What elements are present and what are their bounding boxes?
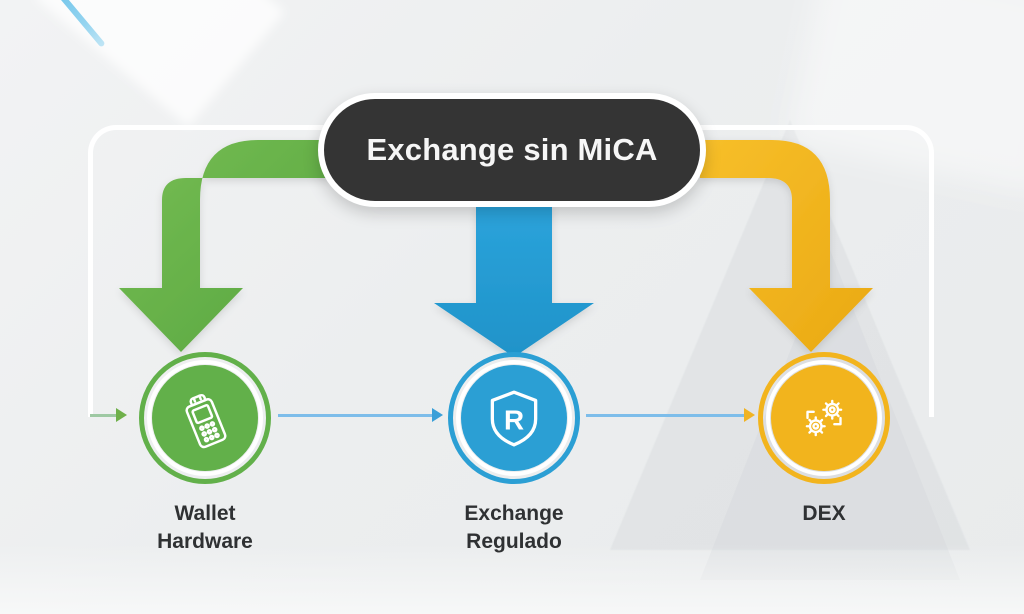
node-label-line2: Hardware	[115, 528, 295, 556]
node-exchange-regulado-label: Exchange Regulado	[424, 500, 604, 555]
node-label-line1: DEX	[734, 500, 914, 528]
node-wallet-hardware-label: Wallet Hardware	[115, 500, 295, 555]
connector-wallet-to-exchange	[278, 414, 432, 417]
svg-text:R: R	[504, 404, 524, 435]
node-label-line1: Wallet	[115, 500, 295, 528]
page-title: Exchange sin MiCA	[366, 132, 657, 168]
connector-frame-to-wallet	[90, 414, 116, 417]
node-dex-label: DEX	[734, 500, 914, 528]
node-dex-circle[interactable]	[758, 352, 890, 484]
connector-exchange-to-dex	[586, 414, 744, 417]
hardware-wallet-icon	[172, 385, 238, 451]
node-label-line2: Regulado	[424, 528, 604, 556]
node-wallet-hardware-circle[interactable]	[139, 352, 271, 484]
diagram-canvas: Exchange sin MiCA	[0, 0, 1024, 614]
node-wallet-hardware[interactable]: Wallet Hardware	[115, 352, 295, 555]
node-exchange-regulado[interactable]: R Exchange Regulado	[424, 352, 604, 555]
node-label-line1: Exchange	[424, 500, 604, 528]
gears-icon	[791, 385, 857, 451]
node-exchange-regulado-circle[interactable]: R	[448, 352, 580, 484]
node-dex[interactable]: DEX	[734, 352, 914, 528]
shield-r-icon: R	[481, 385, 547, 451]
title-pill[interactable]: Exchange sin MiCA	[318, 93, 706, 207]
